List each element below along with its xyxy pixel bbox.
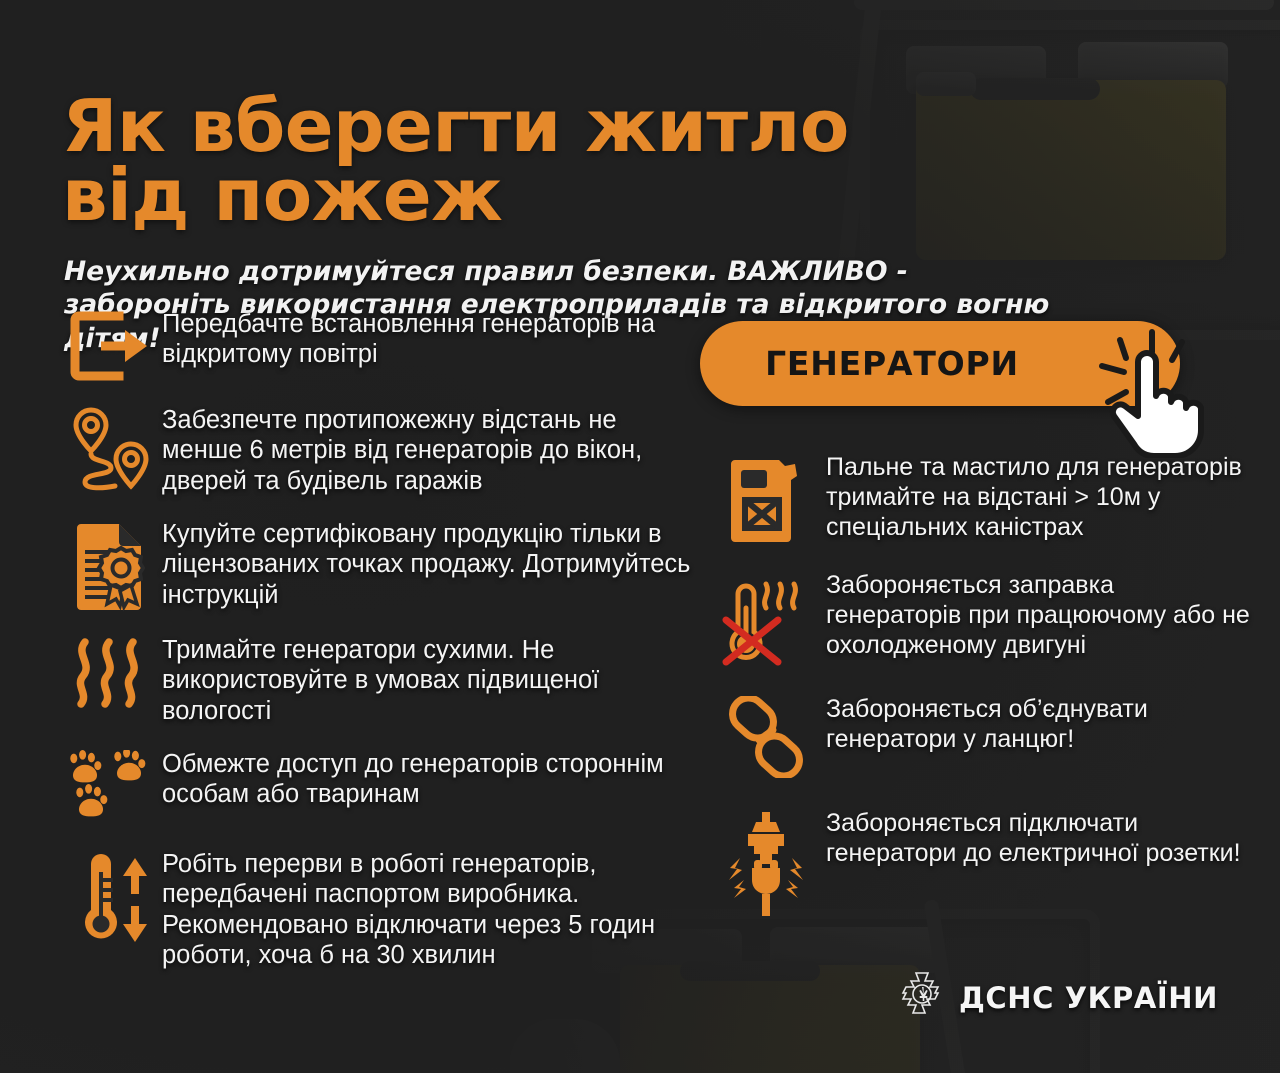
exit-arrow-icon — [58, 308, 162, 382]
list-item-text: Тримайте генератори сухими. Не використо… — [162, 634, 698, 726]
list-item: Тримайте генератори сухими. Не використо… — [58, 634, 698, 726]
list-item: Пальне та мастило для генераторів тримай… — [706, 452, 1251, 546]
certificate-document-icon — [58, 518, 162, 614]
generators-button-label: ГЕНЕРАТОРИ — [765, 344, 1019, 383]
list-item: Забороняється об’єднувати генератори у л… — [706, 694, 1251, 778]
unplug-spark-icon — [706, 808, 826, 918]
infographic-poster: Як вберегти житло від пожеж Неухильно до… — [0, 0, 1280, 1073]
map-pins-route-icon — [58, 404, 162, 498]
list-item-text: Пальне та мастило для генераторів тримай… — [826, 452, 1251, 542]
chain-link-icon — [706, 694, 826, 778]
list-item-text: Забезпечте протипожежну відстань не менш… — [162, 404, 698, 496]
list-item: Забороняється заправка генераторів при п… — [706, 570, 1251, 668]
list-item-text: Передбачте встановлення генераторів на в… — [162, 308, 698, 370]
animal-paws-icon — [58, 748, 162, 826]
hot-thermometer-crossed-icon — [706, 570, 826, 668]
list-item-text: Забороняється заправка генераторів при п… — [826, 570, 1251, 660]
list-item: Забороняється підключати генератори до е… — [706, 808, 1251, 918]
list-item-text: Купуйте сертифіковану продукцію тільки в… — [162, 518, 698, 610]
title-line-2: від пожеж — [62, 161, 962, 230]
humidity-waves-icon — [58, 634, 162, 710]
thermometer-arrows-icon — [58, 848, 162, 946]
left-tips-column: Передбачте встановлення генераторів на в… — [58, 308, 698, 992]
list-item-text: Робіть перерви в роботі генераторів, пер… — [162, 848, 698, 970]
page-title: Як вберегти житло від пожеж — [62, 92, 962, 230]
dsns-label: ДСНС УКРАЇНИ — [959, 981, 1218, 1015]
list-item: Передбачте встановлення генераторів на в… — [58, 308, 698, 382]
list-item-text: Забороняється підключати генератори до е… — [826, 808, 1251, 869]
right-tips-column: Пальне та мастило для генераторів тримай… — [706, 452, 1251, 944]
list-item: Забезпечте протипожежну відстань не менш… — [58, 404, 698, 498]
jerrycan-fuel-icon — [706, 452, 826, 546]
list-item-text: Забороняється об’єднувати генератори у л… — [826, 694, 1251, 755]
dsns-footer-logo: ДСНС УКРАЇНИ — [899, 970, 1218, 1025]
dsns-cross-emblem-icon — [899, 970, 945, 1025]
list-item-text: Обмежте доступ до генераторів стороннім … — [162, 748, 698, 810]
list-item: Купуйте сертифіковану продукцію тільки в… — [58, 518, 698, 614]
generators-button[interactable]: ГЕНЕРАТОРИ — [700, 321, 1180, 406]
list-item: Робіть перерви в роботі генераторів, пер… — [58, 848, 698, 970]
list-item: Обмежте доступ до генераторів стороннім … — [58, 748, 698, 826]
